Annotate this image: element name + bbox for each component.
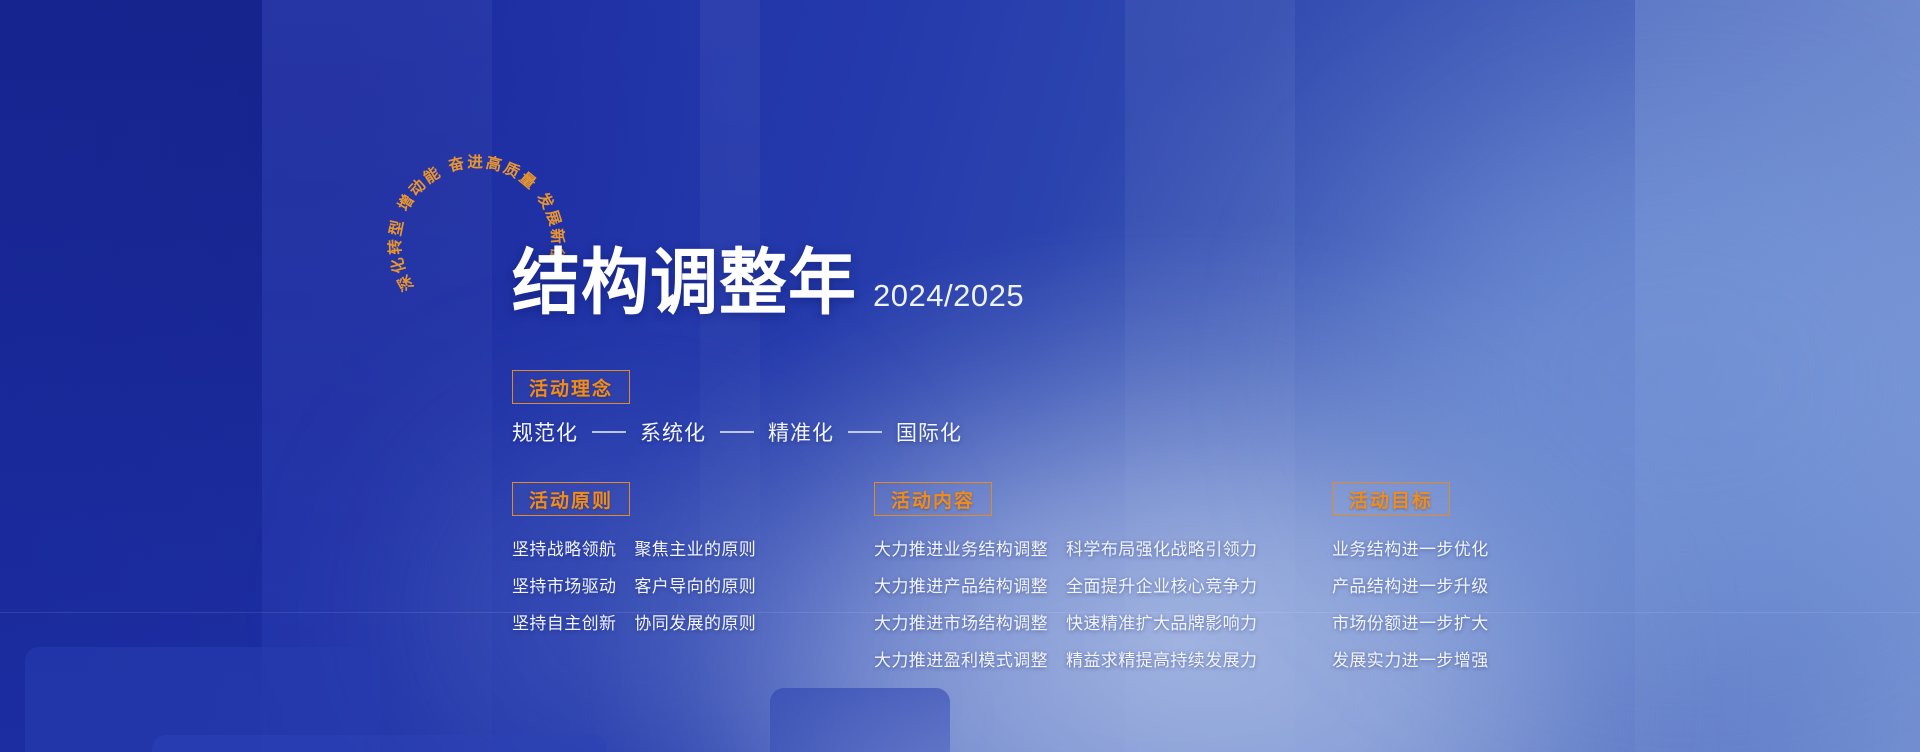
list-item-secondary: 科学布局强化战略引领力 (1066, 535, 1257, 560)
list-item-secondary: 协同发展的原则 (634, 609, 756, 634)
list-item-primary: 市场份额进一步扩大 (1332, 609, 1489, 634)
list-item: 坚持战略领航 聚焦主业的原则 (512, 535, 756, 560)
list-item: 大力推进业务结构调整 科学布局强化战略引领力 (874, 535, 1257, 560)
list-item-primary: 坚持战略领航 (512, 535, 616, 560)
list-item-primary: 坚持自主创新 (512, 609, 616, 634)
page-title: 结构调整年 (512, 248, 857, 320)
list-item-primary: 坚持市场驱动 (512, 572, 616, 597)
column-contents-rows: 大力推进业务结构调整 科学布局强化战略引领力 大力推进产品结构调整 全面提升企业… (874, 535, 1257, 671)
badge-activity-idea: 活动理念 (512, 370, 630, 404)
list-item-secondary: 客户导向的原则 (634, 572, 756, 597)
column-goals-rows: 业务结构进一步优化 产品结构进一步升级 市场份额进一步扩大 发展实力进一步增强 (1332, 535, 1489, 671)
list-item: 市场份额进一步扩大 (1332, 609, 1489, 634)
list-item-primary: 大力推进市场结构调整 (874, 609, 1048, 634)
list-item-primary: 产品结构进一步升级 (1332, 572, 1489, 597)
list-item-secondary: 精益求精提高持续发展力 (1066, 646, 1257, 671)
list-item: 大力推进产品结构调整 全面提升企业核心竞争力 (874, 572, 1257, 597)
badge-activity-contents-label: 活动内容 (874, 482, 992, 516)
badge-activity-principles-label: 活动原则 (512, 482, 630, 516)
list-item: 业务结构进一步优化 (1332, 535, 1489, 560)
list-item-primary: 业务结构进一步优化 (1332, 535, 1489, 560)
idea-keyword-2: 系统化 (640, 417, 706, 447)
badge-activity-idea-label: 活动理念 (512, 370, 630, 404)
year-label: 2024/2025 (873, 278, 1024, 320)
badge-activity-goals-label: 活动目标 (1332, 482, 1450, 516)
idea-keyword-1: 规范化 (512, 417, 578, 447)
list-item: 大力推进盈利模式调整 精益求精提高持续发展力 (874, 646, 1257, 671)
idea-keywords: 规范化 系统化 精准化 国际化 (512, 417, 962, 447)
banner-content: 深化转型 增动能 奋进高质量 发展新征程 结构调整年 2024/2025 活动理… (0, 0, 1920, 752)
list-item: 大力推进市场结构调整 快速精准扩大品牌影响力 (874, 609, 1257, 634)
list-item-primary: 大力推进产品结构调整 (874, 572, 1048, 597)
list-item-secondary: 聚焦主业的原则 (634, 535, 756, 560)
column-principles-rows: 坚持战略领航 聚焦主业的原则 坚持市场驱动 客户导向的原则 坚持自主创新 协同发… (512, 535, 756, 634)
column-principles: 活动原则 坚持战略领航 聚焦主业的原则 坚持市场驱动 客户导向的原则 坚持自主创… (512, 482, 756, 634)
list-item-primary: 大力推进盈利模式调整 (874, 646, 1048, 671)
column-goals: 活动目标 业务结构进一步优化 产品结构进一步升级 市场份额进一步扩大 发展实力进… (1332, 482, 1489, 671)
list-item-primary: 发展实力进一步增强 (1332, 646, 1489, 671)
list-item: 发展实力进一步增强 (1332, 646, 1489, 671)
badge-activity-goals: 活动目标 (1332, 482, 1489, 516)
list-item-secondary: 快速精准扩大品牌影响力 (1066, 609, 1257, 634)
list-item: 坚持自主创新 协同发展的原则 (512, 609, 756, 634)
badge-activity-contents: 活动内容 (874, 482, 1257, 516)
list-item: 产品结构进一步升级 (1332, 572, 1489, 597)
badge-activity-principles: 活动原则 (512, 482, 756, 516)
list-item-secondary: 全面提升企业核心竞争力 (1066, 572, 1257, 597)
idea-separator-3 (848, 431, 882, 433)
title-row: 结构调整年 2024/2025 (512, 252, 1024, 320)
column-contents: 活动内容 大力推进业务结构调整 科学布局强化战略引领力 大力推进产品结构调整 全… (874, 482, 1257, 671)
idea-separator-2 (720, 431, 754, 433)
idea-keyword-3: 精准化 (768, 417, 834, 447)
idea-keyword-4: 国际化 (896, 417, 962, 447)
list-item: 坚持市场驱动 客户导向的原则 (512, 572, 756, 597)
idea-separator-1 (592, 431, 626, 433)
list-item-primary: 大力推进业务结构调整 (874, 535, 1048, 560)
